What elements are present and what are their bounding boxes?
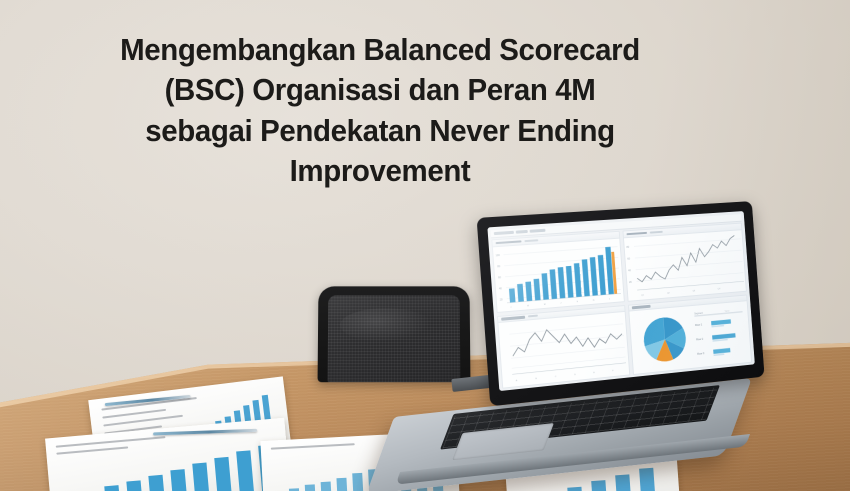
- pie-legend: Segment Value Row 1 Row 2 Row 3: [694, 308, 745, 357]
- article-title: Mengembangkan Balanced Scorecard (BSC) O…: [0, 30, 760, 191]
- svg-text:S: S: [577, 301, 579, 303]
- panel-line-trend-body: 8060 4020 Q1Q2 Q3Q4: [623, 230, 745, 300]
- svg-text:Row 3: Row 3: [697, 351, 705, 356]
- title-line-4: Improvement: [19, 151, 741, 191]
- svg-text:Row 1: Row 1: [694, 323, 702, 328]
- svg-text:N: N: [593, 299, 595, 301]
- svg-text:60: 60: [498, 275, 502, 279]
- svg-text:F: F: [612, 370, 614, 372]
- svg-text:E: E: [593, 372, 595, 374]
- svg-text:100: 100: [495, 253, 500, 257]
- panel-pie-chart[interactable]: Segment Value Row 1 Row 2 Row 3: [627, 294, 752, 375]
- svg-text:Q4: Q4: [717, 288, 720, 290]
- title-line-3: sebagai Pendekatan Never Ending: [19, 111, 741, 151]
- svg-text:B: B: [535, 378, 537, 380]
- pie-chart-svg: Segment Value Row 1 Row 2 Row 3: [629, 301, 751, 374]
- svg-text:J: J: [609, 298, 610, 300]
- svg-text:Q1: Q1: [641, 294, 645, 296]
- panel-line-flat[interactable]: ABC DEF: [497, 305, 630, 389]
- panel-bar-body: 10080 604020: [493, 238, 623, 311]
- line-flat-svg: ABC DEF: [498, 312, 628, 387]
- svg-text:20: 20: [628, 280, 631, 283]
- laptop-screen[interactable]: 10080 604020: [487, 211, 754, 391]
- panel-line-flat-body: ABC DEF: [498, 312, 628, 387]
- svg-text:C: C: [555, 376, 557, 378]
- laptop-lid: 10080 604020: [477, 201, 765, 406]
- svg-text:80: 80: [626, 246, 629, 249]
- svg-text:40: 40: [499, 286, 503, 290]
- svg-text:Q3: Q3: [692, 290, 695, 292]
- svg-text:Q2: Q2: [667, 292, 671, 294]
- svg-text:D: D: [574, 374, 576, 376]
- svg-text:20: 20: [500, 297, 504, 301]
- svg-text:J: J: [510, 306, 511, 308]
- title-line-1: Mengembangkan Balanced Scorecard: [19, 30, 741, 70]
- scene-root: 10080 604020: [0, 0, 850, 491]
- svg-text:J: J: [560, 302, 561, 304]
- panel-bar-chart[interactable]: 10080 604020: [491, 231, 624, 313]
- bar-chart-svg: 10080 604020: [493, 238, 623, 311]
- title-line-2: (BSC) Organisasi dan Peran 4M: [19, 70, 741, 110]
- svg-text:40: 40: [628, 269, 631, 272]
- dashboard-panels: 10080 604020: [491, 223, 752, 389]
- dashboard[interactable]: 10080 604020: [487, 211, 754, 391]
- line-trend-svg: 8060 4020 Q1Q2 Q3Q4: [623, 230, 745, 300]
- svg-text:Row 2: Row 2: [696, 337, 704, 342]
- svg-text:A: A: [516, 379, 518, 382]
- svg-text:M: M: [527, 305, 529, 307]
- svg-text:80: 80: [497, 264, 501, 268]
- panel-pie-body: Segment Value Row 1 Row 2 Row 3: [629, 301, 751, 374]
- svg-text:60: 60: [627, 257, 630, 260]
- panel-line-trend[interactable]: 8060 4020 Q1Q2 Q3Q4: [622, 223, 747, 302]
- svg-text:M: M: [544, 303, 546, 305]
